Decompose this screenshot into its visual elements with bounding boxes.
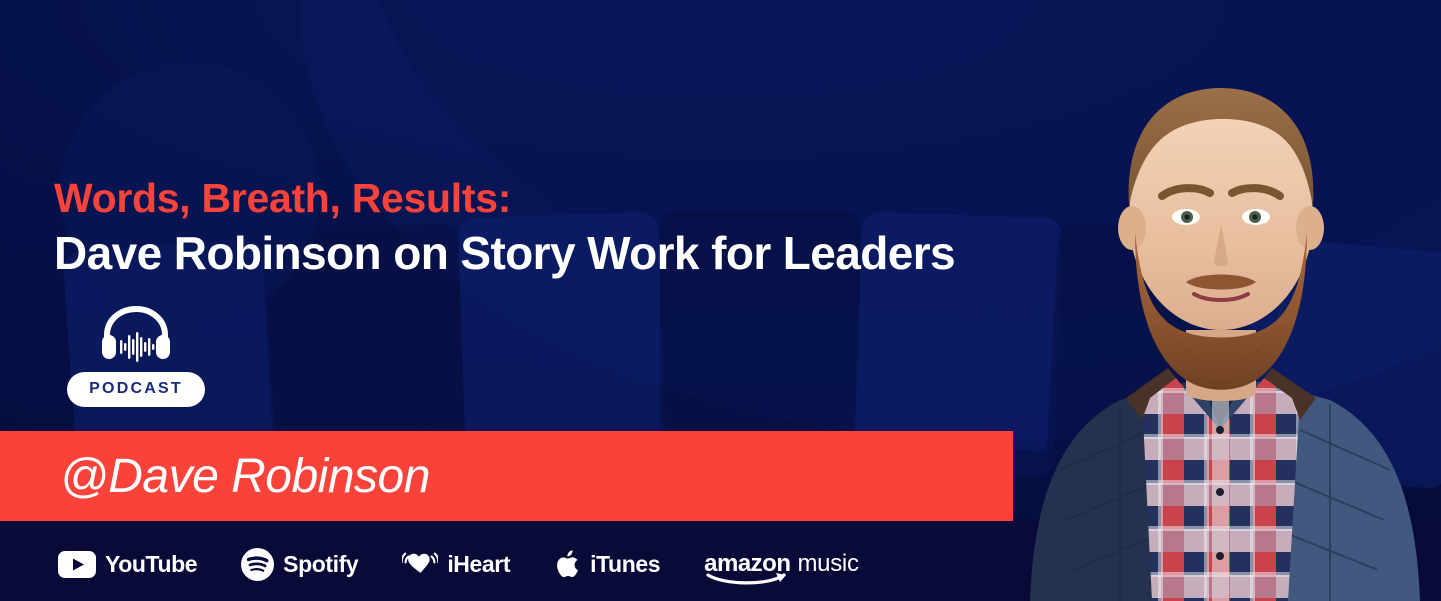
guest-photo [1000, 0, 1441, 601]
platform-logo-row: YouTube Spotify [58, 541, 859, 587]
platform-label: YouTube [105, 551, 197, 578]
platform-amazon-music[interactable]: amazon music [704, 550, 859, 578]
headphones-waveform-icon [99, 304, 173, 362]
podcast-episode-banner: Words, Breath, Results: Dave Robinson on… [0, 0, 1441, 601]
platform-spotify[interactable]: Spotify [241, 548, 358, 581]
guest-handle: @Dave Robinson [0, 449, 430, 504]
headline-block: Words, Breath, Results: Dave Robinson on… [54, 172, 955, 283]
platform-itunes[interactable]: iTunes [554, 548, 660, 580]
episode-title: Dave Robinson on Story Work for Leaders [54, 224, 955, 283]
amazon-smile-icon [706, 572, 788, 586]
guest-portrait-illustration [1000, 0, 1441, 601]
platform-youtube[interactable]: YouTube [58, 551, 197, 578]
apple-icon [554, 548, 581, 580]
platform-iheart[interactable]: iHeart [402, 550, 510, 578]
podcast-badge: PODCAST [62, 304, 210, 407]
platform-label: Spotify [283, 551, 358, 578]
iheart-icon [402, 550, 438, 578]
youtube-icon [58, 551, 96, 578]
platform-label: iHeart [447, 551, 510, 578]
platform-label-light: music [797, 550, 858, 578]
platform-label: iTunes [590, 551, 660, 578]
podcast-badge-label: PODCAST [67, 372, 205, 407]
episode-kicker: Words, Breath, Results: [54, 172, 955, 224]
guest-name-banner: @Dave Robinson [0, 431, 1013, 521]
spotify-icon [241, 548, 274, 581]
